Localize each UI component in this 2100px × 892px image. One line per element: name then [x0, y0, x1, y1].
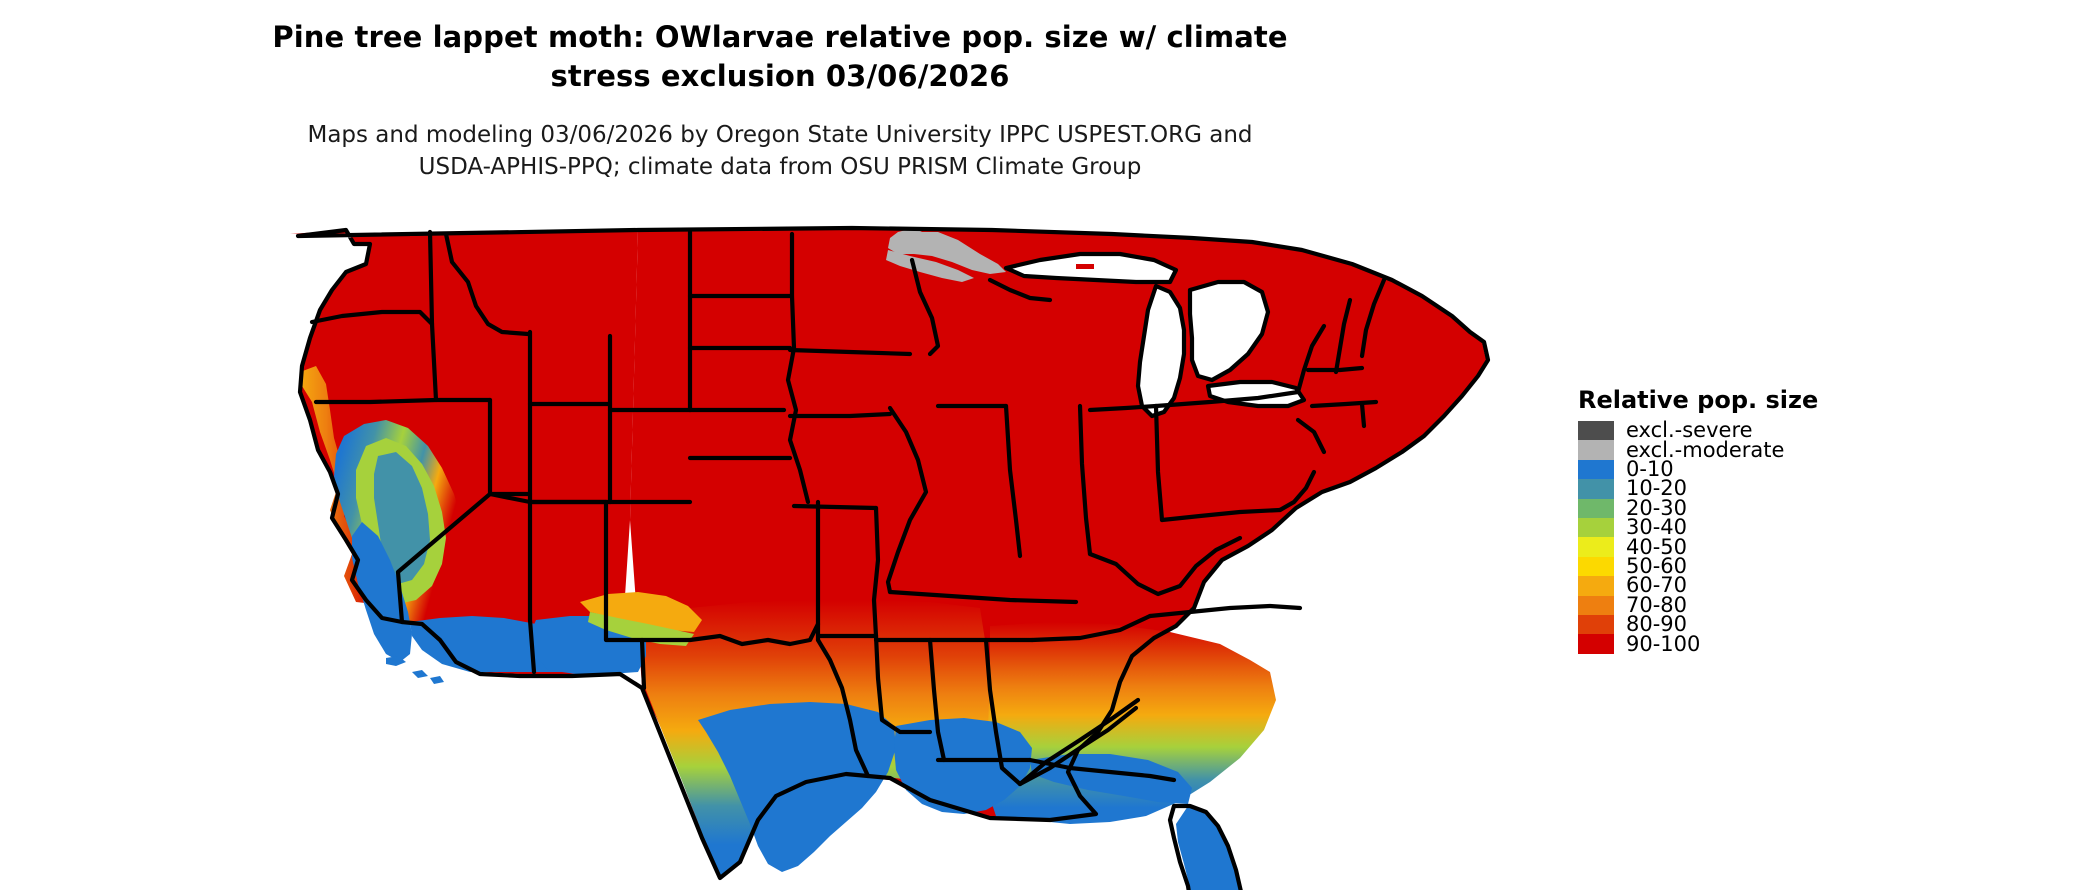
state-line-ia-mo [790, 414, 890, 416]
legend-swatch-80-90 [1578, 615, 1614, 634]
title-line-1: Pine tree lappet moth: OWlarvae relative… [0, 18, 1560, 57]
map-svg [290, 220, 1560, 890]
legend-swatch-90-100 [1578, 634, 1614, 653]
map-legend: Relative pop. size excl.-severe excl.-mo… [1578, 386, 1908, 654]
map-page: Pine tree lappet moth: OWlarvae relative… [0, 0, 2100, 892]
legend-swatch-60-70 [1578, 576, 1614, 595]
legend-swatch-70-80 [1578, 596, 1614, 615]
legend-title: Relative pop. size [1578, 386, 1908, 414]
legend-swatch-30-40 [1578, 518, 1614, 537]
state-line-ct-ri [1362, 404, 1364, 426]
legend-label-90-100: 90-100 [1626, 634, 1700, 655]
legend-swatch-40-50 [1578, 537, 1614, 556]
legend-swatch-20-30 [1578, 499, 1614, 518]
channel-islands [386, 656, 444, 684]
subtitle-line-1: Maps and modeling 03/06/2026 by Oregon S… [0, 120, 1560, 152]
legend-swatch-50-60 [1578, 557, 1614, 576]
legend-swatch-excl-severe [1578, 421, 1614, 440]
state-line-wa-id [430, 232, 432, 324]
legend-items: excl.-severe excl.-moderate 0-10 10-20 2… [1578, 421, 1908, 654]
page-subtitle: Maps and modeling 03/06/2026 by Oregon S… [0, 120, 1560, 183]
legend-swatch-0-10 [1578, 460, 1614, 479]
legend-swatch-excl-moderate [1578, 440, 1614, 459]
page-title: Pine tree lappet moth: OWlarvae relative… [0, 18, 1560, 95]
state-line-mo-ar [794, 506, 876, 508]
choropleth-map [290, 220, 1560, 890]
legend-swatch-10-20 [1578, 479, 1614, 498]
subtitle-line-2: USDA-APHIS-PPQ; climate data from OSU PR… [0, 152, 1560, 184]
legend-item-90-100[interactable]: 90-100 [1578, 634, 1908, 653]
state-line-or-ca-nv [316, 400, 490, 402]
title-line-2: stress exclusion 03/06/2026 [0, 57, 1560, 96]
state-line-ma-nh-vt [1308, 368, 1362, 370]
